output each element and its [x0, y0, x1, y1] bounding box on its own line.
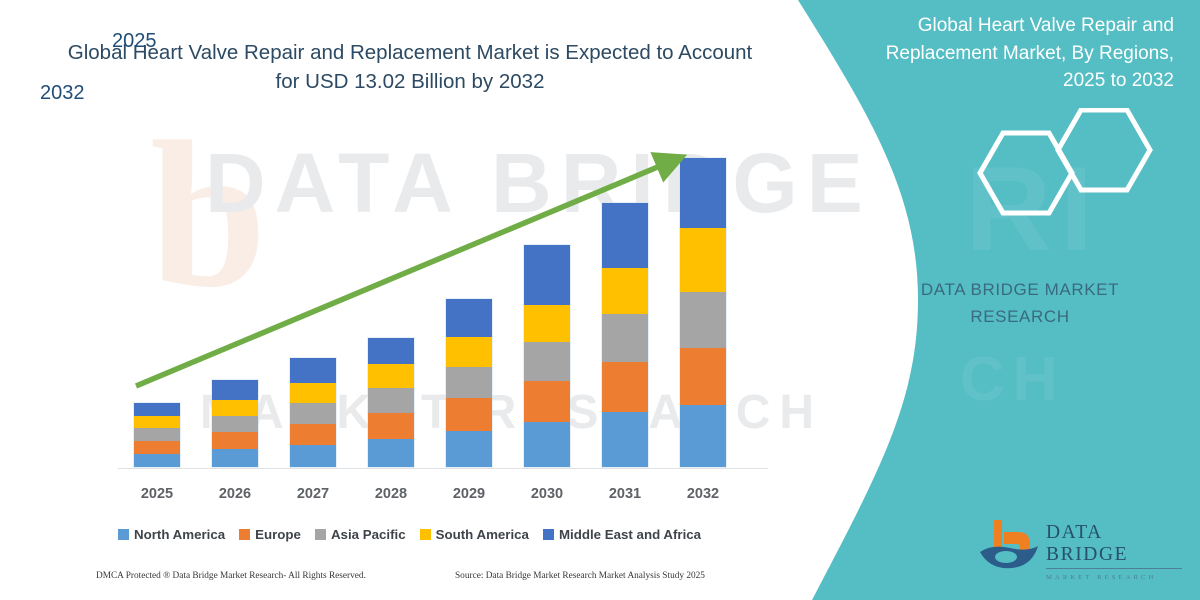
bar-2027 [290, 358, 336, 467]
brand-name: DATA BRIDGE MARKET RESEARCH [870, 276, 1170, 330]
bar-2026 [212, 380, 258, 467]
bar-segment-2030-1 [524, 381, 570, 422]
legend-item-1[interactable]: Europe [239, 527, 301, 542]
bar-segment-2032-0 [680, 405, 726, 467]
bar-segment-2027-4 [290, 358, 336, 383]
bar-segment-2027-2 [290, 403, 336, 424]
bar-segment-2026-3 [212, 400, 258, 416]
brand-line-2: RESEARCH [970, 307, 1069, 326]
bar-segment-2031-4 [602, 203, 648, 268]
legend-item-3[interactable]: South America [420, 527, 529, 542]
legend-item-4[interactable]: Middle East and Africa [543, 527, 701, 542]
legend-swatch-icon [420, 529, 431, 540]
bar-2025 [134, 403, 180, 467]
bar-segment-2025-0 [134, 454, 180, 467]
legend-label: South America [436, 527, 529, 542]
x-axis-line [118, 468, 768, 469]
bar-segment-2030-3 [524, 305, 570, 342]
bar-segment-2031-3 [602, 268, 648, 314]
hexagon-2032-label: 2032 [40, 82, 85, 105]
bar-segment-2029-3 [446, 337, 492, 367]
hexagon-2025-label: 2025 [112, 30, 157, 53]
x-label-2031: 2031 [586, 486, 664, 502]
bar-segment-2030-2 [524, 342, 570, 381]
x-label-2032: 2032 [664, 486, 742, 502]
legend-label: Middle East and Africa [559, 527, 701, 542]
bar-segment-2025-4 [134, 403, 180, 416]
x-label-2027: 2027 [274, 486, 352, 502]
bar-segment-2026-0 [212, 449, 258, 467]
chart-legend: North AmericaEuropeAsia PacificSouth Ame… [118, 527, 778, 542]
legend-item-2[interactable]: Asia Pacific [315, 527, 406, 542]
legend-swatch-icon [543, 529, 554, 540]
legend-label: North America [134, 527, 225, 542]
bar-2031 [602, 203, 648, 467]
bar-segment-2027-3 [290, 383, 336, 403]
panel-title: Global Heart Valve Repair and Replacemen… [864, 12, 1174, 95]
bar-segment-2031-1 [602, 362, 648, 412]
hexagon-badges [960, 108, 1180, 238]
footer-source-note: Source: Data Bridge Market Research Mark… [455, 571, 705, 581]
x-label-2025: 2025 [118, 486, 196, 502]
x-label-2030: 2030 [508, 486, 586, 502]
bar-segment-2031-0 [602, 412, 648, 467]
x-label-2026: 2026 [196, 486, 274, 502]
bar-2028 [368, 338, 414, 467]
bar-segment-2028-4 [368, 338, 414, 364]
legend-swatch-icon [118, 529, 129, 540]
bar-segment-2025-1 [134, 441, 180, 454]
bar-segment-2028-2 [368, 388, 414, 413]
bar-segment-2029-2 [446, 367, 492, 398]
dbmr-logo-mark [974, 516, 1044, 574]
bar-segment-2029-1 [446, 398, 492, 431]
bar-segment-2027-0 [290, 445, 336, 467]
svg-text:CH: CH [960, 345, 1066, 414]
legend-item-0[interactable]: North America [118, 527, 225, 542]
x-axis-labels: 20252026202720282029203020312032 [118, 486, 768, 502]
bar-segment-2029-4 [446, 299, 492, 337]
brand-line-1: DATA BRIDGE MARKET [921, 280, 1119, 299]
hexagon-2025-shape [1058, 110, 1150, 190]
x-label-2028: 2028 [352, 486, 430, 502]
page-title: Global Heart Valve Repair and Replacemen… [60, 38, 760, 96]
bar-segment-2025-2 [134, 428, 180, 441]
bar-segment-2026-4 [212, 380, 258, 400]
dbmr-logo-text: DATA BRIDGE MARKET RESEARCH [1046, 522, 1182, 581]
legend-label: Asia Pacific [331, 527, 406, 542]
bar-segment-2026-2 [212, 416, 258, 432]
footer-dmca-notice: DMCA Protected ® Data Bridge Market Rese… [96, 571, 366, 581]
dbmr-logo-rule [1046, 568, 1182, 569]
bar-segment-2028-1 [368, 413, 414, 439]
bar-segment-2029-0 [446, 431, 492, 467]
bar-segment-2025-3 [134, 416, 180, 428]
legend-swatch-icon [315, 529, 326, 540]
legend-swatch-icon [239, 529, 250, 540]
legend-label: Europe [255, 527, 301, 542]
bar-segment-2028-3 [368, 364, 414, 388]
x-label-2029: 2029 [430, 486, 508, 502]
bar-segment-2032-1 [680, 348, 726, 405]
bar-segment-2032-3 [680, 228, 726, 292]
bar-segment-2032-2 [680, 292, 726, 348]
bar-segment-2027-1 [290, 424, 336, 445]
infographic-canvas: RI CH b DATA BRIDGE MARKET RESEARCH Glob… [0, 0, 1200, 600]
bar-segment-2028-0 [368, 439, 414, 467]
bar-segment-2031-2 [602, 314, 648, 362]
dbmr-logo-main: DATA BRIDGE [1046, 522, 1182, 566]
dbmr-logo-sub: MARKET RESEARCH [1046, 574, 1182, 581]
bar-2029 [446, 299, 492, 467]
bar-segment-2030-4 [524, 245, 570, 305]
bar-segment-2030-0 [524, 422, 570, 467]
bar-2030 [524, 245, 570, 467]
bar-segment-2032-4 [680, 158, 726, 228]
bar-segment-2026-1 [212, 432, 258, 449]
bar-2032 [680, 158, 726, 467]
dbmr-logo: DATA BRIDGE MARKET RESEARCH [974, 516, 1182, 578]
